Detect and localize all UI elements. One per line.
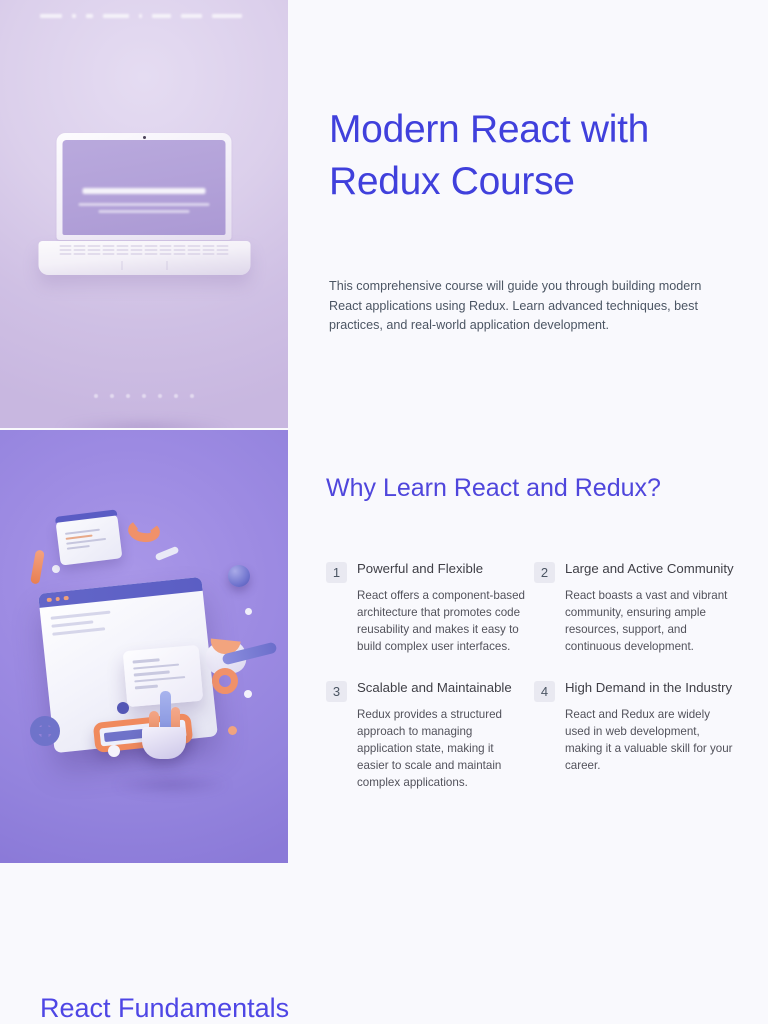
browser-titlebar [38, 577, 203, 608]
benefit-title: Powerful and Flexible [357, 560, 526, 577]
carousel-dot [142, 394, 146, 398]
why-section-3d-illustration [0, 430, 288, 863]
laptop-screen [63, 140, 226, 235]
carousel-dot [158, 394, 162, 398]
screen-subtext-blur [98, 210, 189, 213]
benefit-item: 2 Large and Active Community React boast… [534, 560, 734, 679]
mock-nav-item [72, 14, 76, 18]
code-text-lines [133, 656, 194, 693]
mock-nav-item [86, 14, 93, 18]
benefit-text: React offers a component-based architect… [357, 587, 526, 655]
benefit-title: Scalable and Maintainable [357, 679, 526, 696]
benefit-number-badge: 3 [326, 681, 347, 702]
webcam-icon [143, 136, 146, 139]
screen-subtext-blur [79, 203, 209, 206]
capsule-shape [30, 549, 45, 584]
pencil-cup [138, 715, 190, 759]
sphere-small [52, 565, 60, 573]
benefits-grid: 1 Powerful and Flexible React offers a c… [326, 560, 736, 815]
gear-icon [30, 716, 60, 746]
benefit-body: Powerful and Flexible React offers a com… [357, 560, 526, 655]
why-section-heading: Why Learn React and Redux? [326, 473, 661, 503]
laptop-base [38, 241, 250, 275]
benefit-body: Scalable and Maintainable Redux provides… [357, 679, 526, 791]
carousel-dots [94, 394, 194, 398]
benefit-body: Large and Active Community React boasts … [565, 560, 734, 655]
fundamentals-section-heading: React Fundamentals [40, 991, 289, 1024]
mock-nav-item [181, 14, 202, 18]
laptop-shadow [56, 419, 232, 428]
traffic-light-dot [47, 597, 52, 602]
keyboard [59, 245, 229, 259]
carousel-dot [190, 394, 194, 398]
page-title: Modern React with Redux Course [329, 104, 729, 208]
window-text-lines [65, 528, 111, 553]
benefit-item: 3 Scalable and Maintainable Redux provid… [326, 679, 526, 815]
carousel-dot [126, 394, 130, 398]
course-landing-page: Modern React with Redux Course This comp… [0, 0, 768, 1024]
hero-laptop-illustration [0, 0, 288, 428]
benefit-number-badge: 2 [534, 562, 555, 583]
mock-nav-item [139, 14, 142, 18]
benefit-text: React and Redux are widely used in web d… [565, 706, 734, 774]
carousel-dot [94, 394, 98, 398]
traffic-light-dot [55, 597, 60, 602]
benefit-body: High Demand in the Industry React and Re… [565, 679, 734, 774]
floating-window-card [56, 514, 123, 565]
benefit-number-badge: 1 [326, 562, 347, 583]
trackpad [121, 261, 167, 270]
sphere-orange [228, 726, 237, 735]
laptop-lid [57, 133, 232, 240]
mock-nav-item [40, 14, 62, 18]
mock-navbar [40, 11, 252, 20]
donut-shape [127, 518, 162, 544]
benefit-text: Redux provides a structured approach to … [357, 706, 526, 791]
benefit-number-badge: 4 [534, 681, 555, 702]
sphere-blue [228, 565, 250, 587]
sphere-white [108, 745, 120, 757]
screen-headline-blur [82, 188, 206, 194]
scene-shadow [112, 775, 232, 795]
carousel-dot [174, 394, 178, 398]
sphere-small [245, 608, 252, 615]
window-text-lines [51, 611, 113, 641]
mock-nav-item [152, 14, 171, 18]
benefit-text: React boasts a vast and vibrant communit… [565, 587, 734, 655]
mock-nav-item [103, 14, 129, 18]
benefit-item: 4 High Demand in the Industry React and … [534, 679, 734, 815]
capsule-shape-white [155, 546, 180, 561]
benefit-title: Large and Active Community [565, 560, 734, 577]
ring-shape-orange [212, 668, 238, 694]
benefit-title: High Demand in the Industry [565, 679, 734, 696]
traffic-light-dot [63, 596, 68, 601]
benefit-item: 1 Powerful and Flexible React offers a c… [326, 560, 526, 679]
carousel-dot [110, 394, 114, 398]
sphere-small [244, 690, 252, 698]
hero-description: This comprehensive course will guide you… [329, 277, 725, 336]
cup-body [142, 727, 186, 759]
sphere-navy [117, 702, 129, 714]
mock-nav-item [212, 14, 242, 18]
laptop-mockup [57, 133, 232, 240]
